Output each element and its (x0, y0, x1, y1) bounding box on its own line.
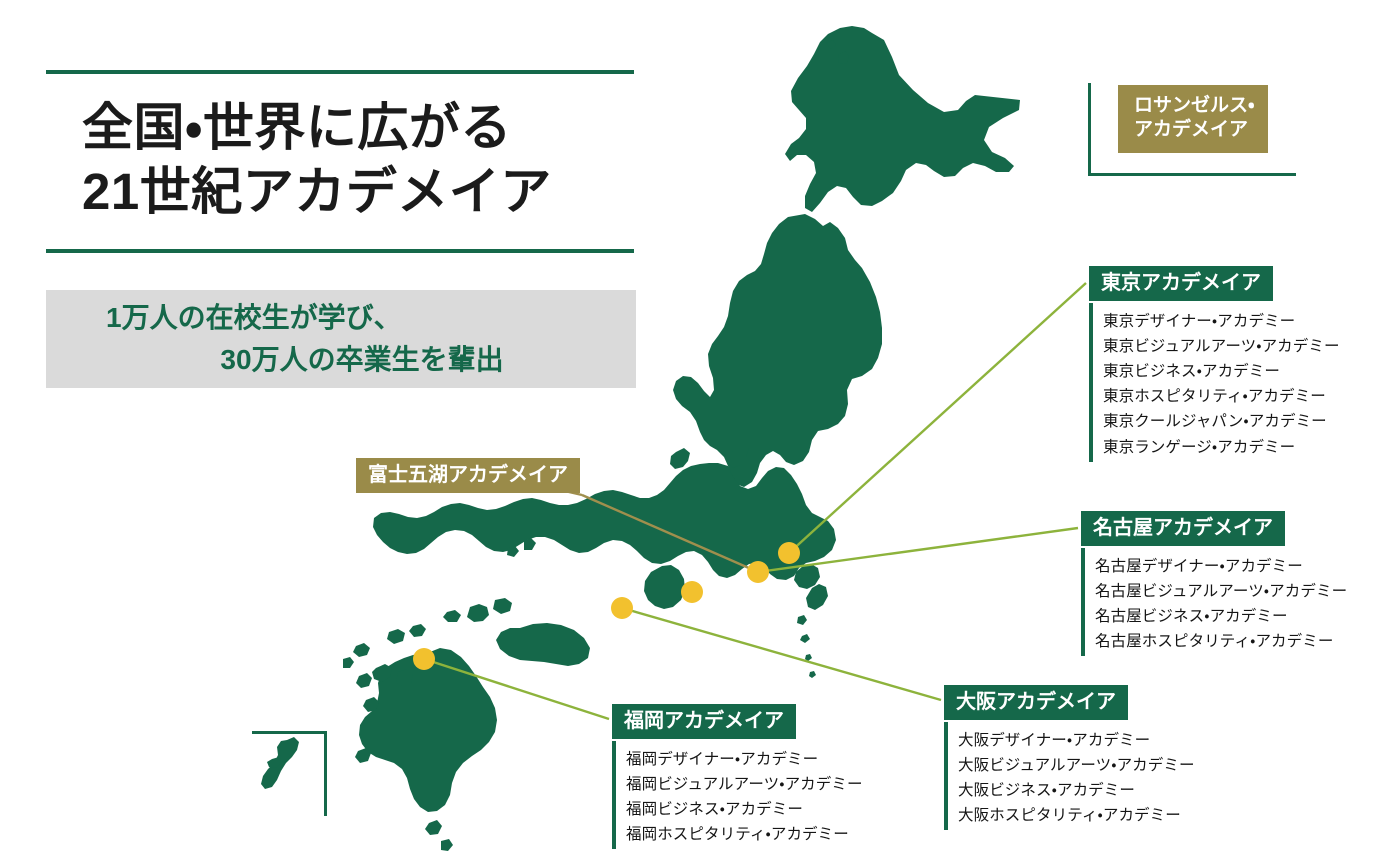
headline-block: 全国・世界に広がる 21世紀アカデメイア (46, 70, 636, 253)
list-item: 福岡ビジュアルアーツ・アカデミー (626, 772, 863, 797)
marker-tokyo[interactable] (778, 542, 800, 564)
marker-fukuoka[interactable] (413, 648, 435, 670)
callout-heading-los-angeles: ロサンゼルス・ アカデメイア (1118, 85, 1268, 153)
subtitle-line-1: 1万人の在校生が学び、 (106, 302, 402, 333)
list-item: 東京ランゲージ・アカデミー (1103, 435, 1340, 460)
list-item: 東京デザイナー・アカデミー (1103, 309, 1340, 334)
list-item: 福岡デザイナー・アカデミー (626, 747, 863, 772)
list-item: 名古屋ビジネス・アカデミー (1095, 604, 1347, 629)
list-item: 大阪デザイナー・アカデミー (958, 728, 1195, 753)
list-item: 大阪ホスピタリティ・アカデミー (958, 803, 1195, 828)
okinawa-inset-frame (252, 731, 327, 816)
callout-heading-fuji-five-lakes: 富士五湖アカデメイア (356, 458, 580, 493)
callout-list-nagoya: 名古屋デザイナー・アカデミー 名古屋ビジュアルアーツ・アカデミー 名古屋ビジネス… (1081, 548, 1347, 656)
list-item: 東京ホスピタリティ・アカデミー (1103, 384, 1340, 409)
callout-nagoya[interactable]: 名古屋アカデメイア 名古屋デザイナー・アカデミー 名古屋ビジュアルアーツ・アカデ… (1081, 511, 1347, 656)
list-item: 大阪ビジュアルアーツ・アカデミー (958, 753, 1195, 778)
callout-fuji-five-lakes[interactable]: 富士五湖アカデメイア (356, 458, 580, 493)
list-item: 東京ビジュアルアーツ・アカデミー (1103, 334, 1340, 359)
callout-osaka[interactable]: 大阪アカデメイア 大阪デザイナー・アカデミー 大阪ビジュアルアーツ・アカデミー … (944, 685, 1195, 830)
marker-nagoya[interactable] (747, 561, 769, 583)
callout-heading-tokyo: 東京アカデメイア (1089, 266, 1273, 301)
marker-fuji[interactable] (681, 581, 703, 603)
page-title: 全国・世界に広がる 21世紀アカデメイア (46, 74, 636, 239)
callout-heading-nagoya: 名古屋アカデメイア (1081, 511, 1285, 546)
callout-list-fukuoka: 福岡デザイナー・アカデミー 福岡ビジュアルアーツ・アカデミー 福岡ビジネス・アカ… (612, 741, 863, 849)
list-item: 名古屋デザイナー・アカデミー (1095, 554, 1347, 579)
list-item: 大阪ビジネス・アカデミー (958, 778, 1195, 803)
infographic-canvas: 全国・世界に広がる 21世紀アカデメイア 1万人の在校生が学び、 30万人の卒業… (0, 0, 1400, 868)
list-item: 名古屋ビジュアルアーツ・アカデミー (1095, 579, 1347, 604)
marker-osaka[interactable] (611, 597, 633, 619)
list-item: 名古屋ホスピタリティ・アカデミー (1095, 629, 1347, 654)
callout-fukuoka[interactable]: 福岡アカデメイア 福岡デザイナー・アカデミー 福岡ビジュアルアーツ・アカデミー … (612, 704, 863, 849)
connector-osaka (622, 608, 941, 700)
list-item: 福岡ビジネス・アカデミー (626, 797, 863, 822)
subtitle-text: 1万人の在校生が学び、 30万人の卒業生を輩出 (46, 255, 636, 423)
callout-heading-osaka: 大阪アカデメイア (944, 685, 1128, 720)
callout-los-angeles[interactable]: ロサンゼルス・ アカデメイア (1118, 85, 1268, 153)
headline-rule-bottom (46, 249, 634, 253)
callout-list-osaka: 大阪デザイナー・アカデミー 大阪ビジュアルアーツ・アカデミー 大阪ビジネス・アカ… (944, 722, 1195, 830)
callout-tokyo[interactable]: 東京アカデメイア 東京デザイナー・アカデミー 東京ビジュアルアーツ・アカデミー … (1089, 266, 1340, 462)
list-item: 東京クールジャパン・アカデミー (1103, 409, 1340, 434)
list-item: 東京ビジネス・アカデミー (1103, 359, 1340, 384)
subtitle-line-2: 30万人の卒業生を輩出 (106, 339, 618, 381)
callout-heading-fukuoka: 福岡アカデメイア (612, 704, 796, 739)
callout-list-tokyo: 東京デザイナー・アカデミー 東京ビジュアルアーツ・アカデミー 東京ビジネス・アカ… (1089, 303, 1340, 462)
subtitle-band: 1万人の在校生が学び、 30万人の卒業生を輩出 (46, 290, 636, 388)
list-item: 福岡ホスピタリティ・アカデミー (626, 822, 863, 847)
